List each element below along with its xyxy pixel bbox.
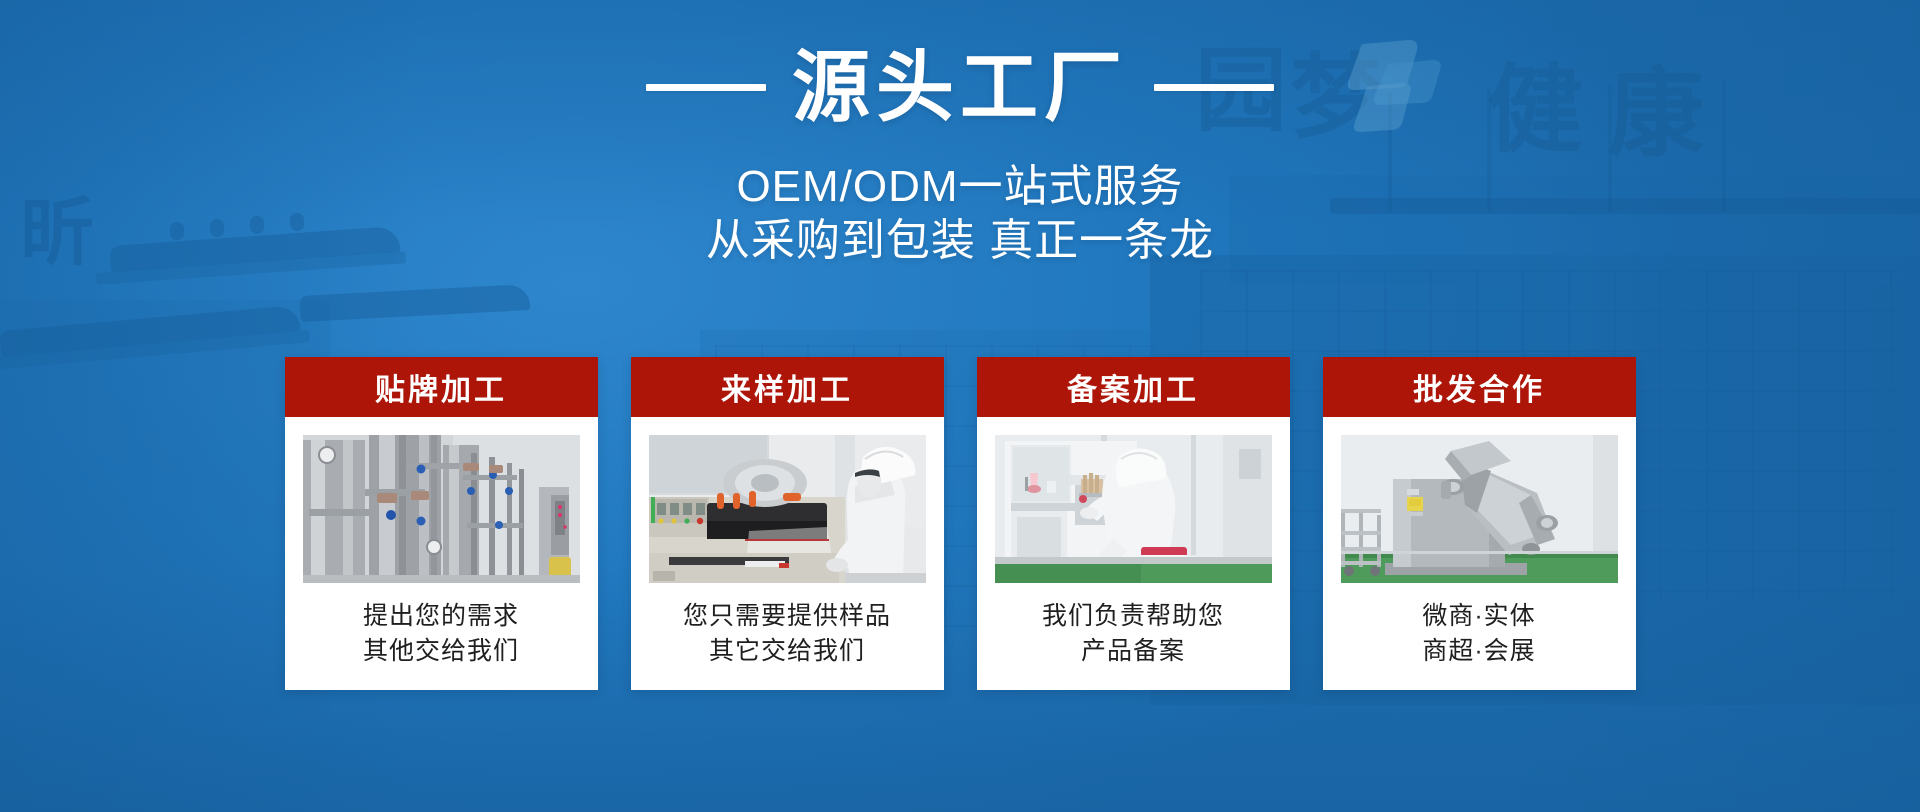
- service-card-list: 贴牌加工: [0, 357, 1920, 690]
- packaging-machine-operator-image: [649, 435, 926, 583]
- card-thumbnail: [649, 435, 926, 583]
- headline-row: 源头工厂: [0, 48, 1920, 126]
- page-title: 源头工厂: [792, 48, 1128, 126]
- v-blender-mixer-image: [1341, 435, 1618, 583]
- card-body: 微商·实体 商超·会展: [1323, 417, 1636, 690]
- card-caption-line-2: 产品备案: [1042, 634, 1224, 669]
- card-thumbnail: [303, 435, 580, 583]
- card-caption-line-1: 提出您的需求: [363, 599, 519, 634]
- card-caption-line-2: 其它交给我们: [683, 634, 891, 669]
- card-title: 贴牌加工: [375, 365, 507, 409]
- card-title: 备案加工: [1067, 365, 1199, 409]
- service-card[interactable]: 来样加工: [631, 357, 944, 690]
- card-caption-line-2: 其他交给我们: [363, 634, 519, 669]
- service-card[interactable]: 贴牌加工: [285, 357, 598, 690]
- card-title: 来样加工: [721, 365, 853, 409]
- card-thumbnail: [1341, 435, 1618, 583]
- card-caption: 我们负责帮助您 产品备案: [1036, 583, 1230, 690]
- card-title-banner: 贴牌加工: [285, 357, 598, 417]
- card-caption: 您只需要提供样品 其它交给我们: [677, 583, 897, 690]
- cleanroom-technician-image: [995, 435, 1272, 583]
- card-title-banner: 来样加工: [631, 357, 944, 417]
- card-caption-line-1: 我们负责帮助您: [1042, 599, 1224, 634]
- card-thumbnail: [995, 435, 1272, 583]
- card-body: 提出您的需求 其他交给我们: [285, 417, 598, 690]
- card-caption: 提出您的需求 其他交给我们: [357, 583, 525, 690]
- promo-banner: 园 梦 健 康 昕 源头工厂 OEM/ODM一站式服务 从采购到包装 真正一条龙…: [0, 0, 1920, 812]
- card-caption-line-1: 您只需要提供样品: [683, 599, 891, 634]
- headline-rule-left: [646, 84, 766, 91]
- card-body: 我们负责帮助您 产品备案: [977, 417, 1290, 690]
- card-caption-line-1: 微商·实体: [1422, 599, 1535, 634]
- service-card[interactable]: 备案加工: [977, 357, 1290, 690]
- service-card[interactable]: 批发合作: [1323, 357, 1636, 690]
- card-body: 您只需要提供样品 其它交给我们: [631, 417, 944, 690]
- card-title-banner: 批发合作: [1323, 357, 1636, 417]
- card-caption: 微商·实体 商超·会展: [1416, 583, 1541, 690]
- card-title-banner: 备案加工: [977, 357, 1290, 417]
- card-caption-line-2: 商超·会展: [1422, 634, 1535, 669]
- processing-tanks-image: [303, 435, 580, 583]
- headline-rule-right: [1154, 84, 1274, 91]
- subtitle-line-2: 从采购到包装 真正一条龙: [0, 204, 1920, 268]
- card-title: 批发合作: [1413, 365, 1545, 409]
